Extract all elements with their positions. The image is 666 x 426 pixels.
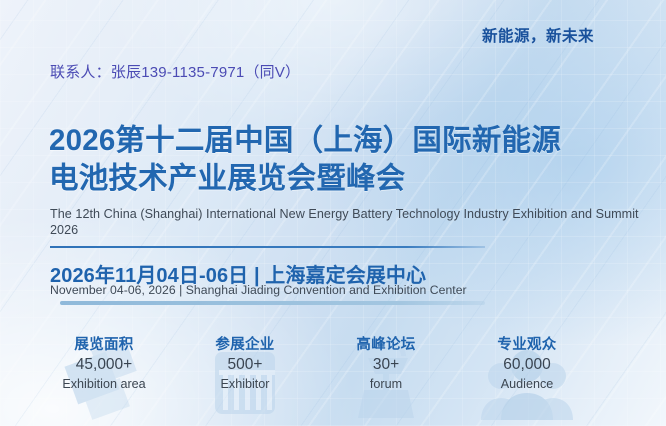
- stat-value: 30+: [332, 354, 440, 376]
- event-poster: 新能源，新未来 联系人：张辰139-1135-7971（同V） 2026第十二届…: [0, 0, 666, 426]
- stat-value: 45,000+: [50, 354, 158, 376]
- divider-above-date: [50, 246, 485, 248]
- stat-value: 60,000: [473, 354, 581, 376]
- stat-label-cn: 专业观众: [473, 336, 581, 354]
- stat-label-cn: 展览面积: [50, 336, 158, 354]
- stat-label-cn: 参展企业: [191, 336, 299, 354]
- contact-line: 联系人：张辰139-1135-7971（同V）: [50, 61, 300, 82]
- poster-tagline: 新能源，新未来: [482, 24, 594, 46]
- title-line-2: 电池技术产业展览会暨峰会: [49, 160, 649, 198]
- stat-label-cn: 高峰论坛: [332, 336, 440, 354]
- title-english-subtitle: The 12th China (Shanghai) International …: [50, 207, 650, 238]
- stat-value: 500+: [191, 354, 299, 376]
- stats-row: 展览面积 45,000+ Exhibition area: [50, 336, 616, 420]
- stat-label-en: forum: [332, 376, 440, 393]
- stat-label-en: Audience: [473, 376, 581, 393]
- stat-label-en: Exhibition area: [50, 376, 158, 393]
- stat-exhibition-area: 展览面积 45,000+ Exhibition area: [50, 336, 158, 420]
- stat-forum: 高峰论坛 30+ forum: [332, 336, 440, 420]
- page-title: 2026第十二届中国（上海）国际新能源 电池技术产业展览会暨峰会: [49, 122, 649, 198]
- date-venue-english: November 04-06, 2026 | Shanghai Jiading …: [50, 283, 467, 297]
- stat-label-en: Exhibitor: [191, 376, 299, 393]
- divider-below-date: [60, 301, 485, 305]
- stat-audience: 专业观众 60,000 Audience: [473, 336, 581, 420]
- stat-exhibitor: 参展企业 500+ Exhibitor: [191, 336, 299, 420]
- title-line-1: 2026第十二届中国（上海）国际新能源: [49, 122, 649, 160]
